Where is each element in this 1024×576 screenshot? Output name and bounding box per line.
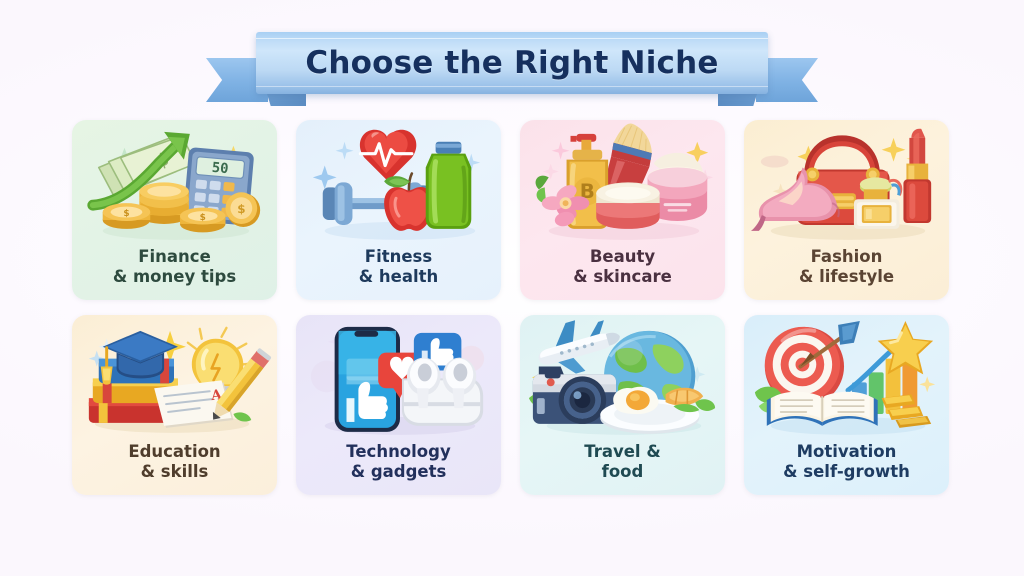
card-label-fitness: Fitness & health <box>296 247 501 300</box>
svg-text:50: 50 <box>211 160 229 177</box>
poster-canvas: Choose the Right Niche <box>0 0 1024 576</box>
motivation-illustration <box>744 315 949 442</box>
card-label-line2: & lifestyle <box>750 267 943 287</box>
card-label-line1: Fitness <box>365 247 432 266</box>
page-title: Choose the Right Niche <box>256 32 768 94</box>
niche-card-motivation[interactable]: Motivation & self-growth <box>744 315 949 495</box>
niche-card-fitness[interactable]: Fitness & health <box>296 120 501 300</box>
niche-card-beauty[interactable]: B <box>520 120 725 300</box>
travel-illustration <box>520 315 725 442</box>
card-label-line2: & self-growth <box>750 462 943 482</box>
card-label-line2: & skills <box>78 462 271 482</box>
niche-card-travel[interactable]: Travel & food <box>520 315 725 495</box>
food-plate-icon <box>600 387 703 434</box>
fried-egg-icon <box>613 387 658 414</box>
card-label-line2: & health <box>302 267 495 287</box>
powder-jar-icon <box>596 182 659 229</box>
card-label-line1: Technology <box>346 442 450 461</box>
beauty-illustration: B <box>520 120 725 247</box>
svg-text:$: $ <box>200 213 206 223</box>
card-label-motivation: Motivation & self-growth <box>744 442 949 495</box>
card-label-line2: food <box>526 462 719 482</box>
supplement-bottle-icon <box>426 142 472 229</box>
niche-card-grid: $ 50 <box>72 120 952 495</box>
fashion-illustration <box>744 120 949 247</box>
technology-illustration <box>296 315 501 442</box>
card-label-fashion: Fashion & lifestyle <box>744 247 949 300</box>
education-illustration: A <box>72 315 277 442</box>
perfume-bottle-icon <box>854 177 901 228</box>
heart-pulse-icon <box>360 130 416 182</box>
finance-illustration: $ 50 <box>72 120 277 247</box>
card-label-line2: & money tips <box>78 267 271 287</box>
card-label-line1: Fashion <box>811 247 883 266</box>
card-label-line1: Beauty <box>590 247 655 266</box>
niche-card-finance[interactable]: $ 50 <box>72 120 277 300</box>
card-label-line1: Finance <box>138 247 211 266</box>
card-label-beauty: Beauty & skincare <box>520 247 725 300</box>
card-label-line1: Travel & <box>584 442 660 461</box>
card-label-line2: & skincare <box>526 267 719 287</box>
svg-text:$: $ <box>237 202 245 216</box>
niche-card-technology[interactable]: Technology & gadgets <box>296 315 501 495</box>
card-label-education: Education & skills <box>72 442 277 495</box>
niche-card-education[interactable]: A <box>72 315 277 495</box>
card-label-travel: Travel & food <box>520 442 725 495</box>
ribbon-body: Choose the Right Niche <box>256 32 768 94</box>
svg-text:$: $ <box>123 209 129 219</box>
title-banner: Choose the Right Niche <box>0 24 1024 108</box>
card-label-line2: & gadgets <box>302 462 495 482</box>
card-label-line1: Education <box>128 442 220 461</box>
lipstick-icon <box>903 129 931 223</box>
card-label-technology: Technology & gadgets <box>296 442 501 495</box>
niche-card-fashion[interactable]: Fashion & lifestyle <box>744 120 949 300</box>
card-label-finance: Finance & money tips <box>72 247 277 300</box>
fitness-illustration <box>296 120 501 247</box>
card-label-line1: Motivation <box>797 442 897 461</box>
